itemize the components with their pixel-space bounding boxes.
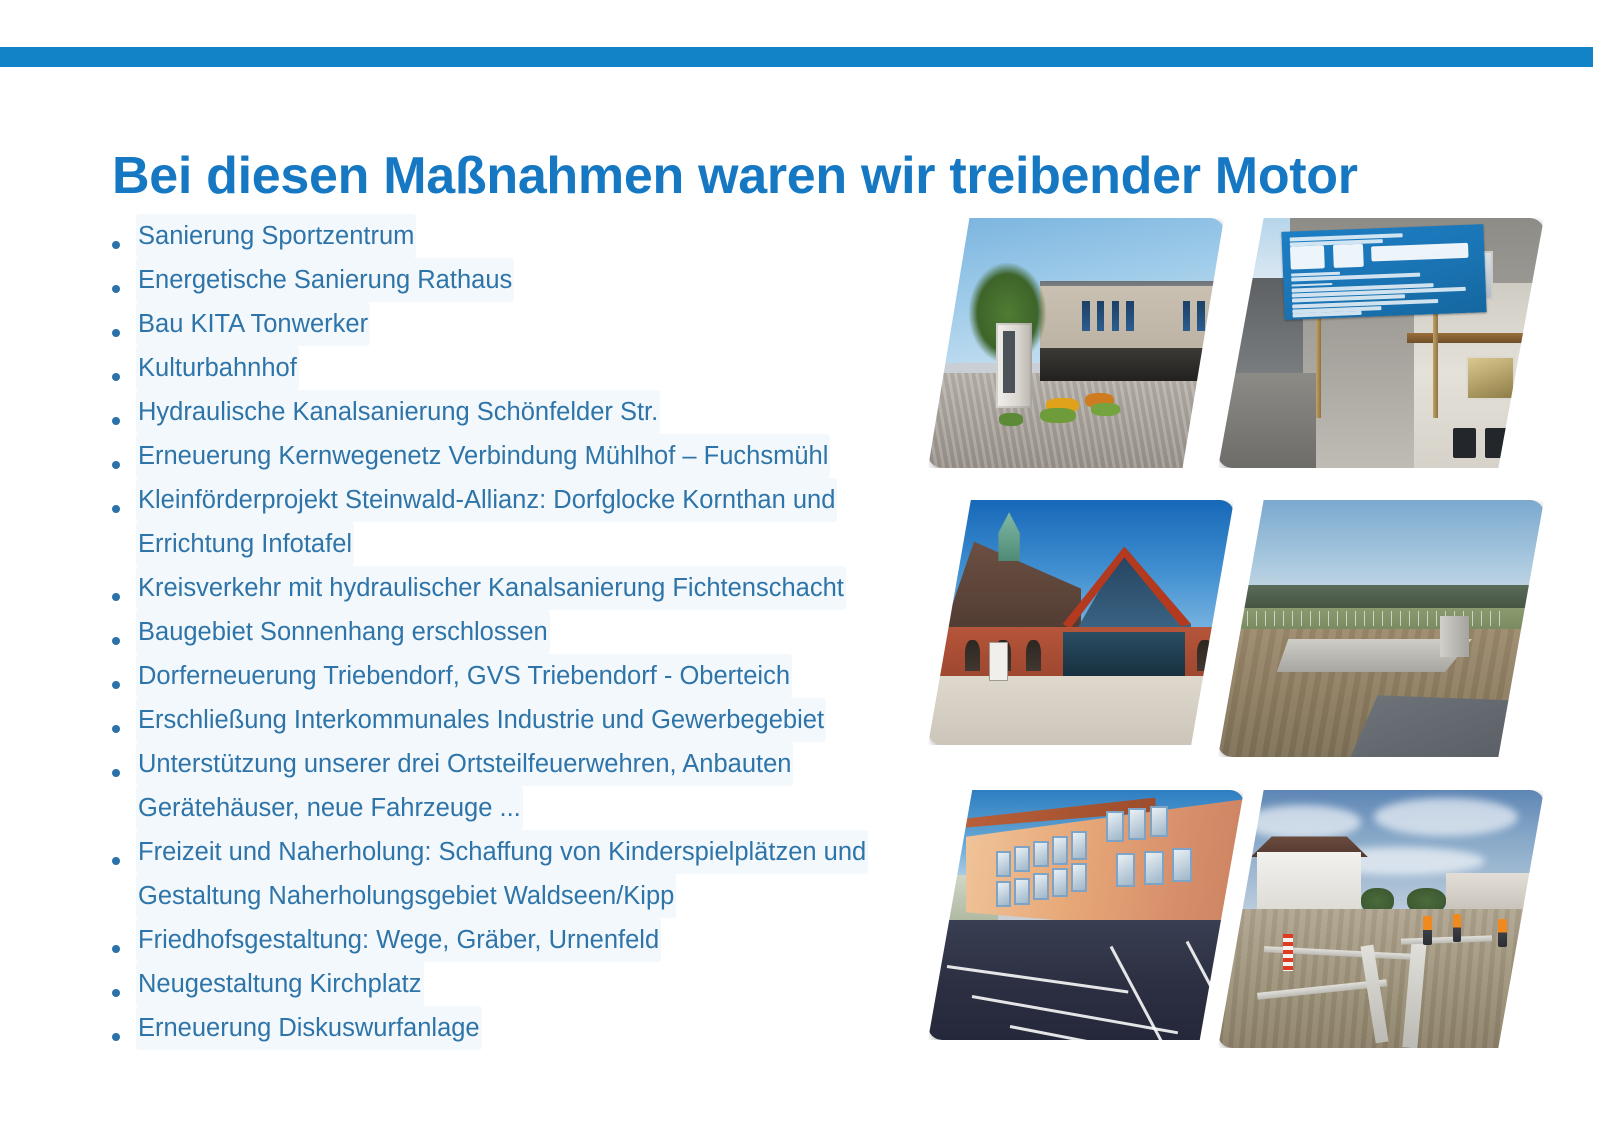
flower-bed [999, 413, 1023, 426]
bullet-item: Friedhofsgestaltung: Wege, Gräber, Urnen… [112, 918, 942, 962]
bullet-item: Bau KITA Tonwerker [112, 302, 942, 346]
bullet-line-continuation: Gestaltung Naherholungsgebiet Waldseen/K… [136, 874, 676, 918]
page-title: Bei diesen Maßnahmen waren wir treibende… [112, 147, 1542, 205]
bullet-text: Erneuerung Kernwegenetz Verbindung Mühlh… [136, 434, 942, 478]
bullet-item: Erneuerung Kernwegenetz Verbindung Mühlh… [112, 434, 942, 478]
bullet-line: Friedhofsgestaltung: Wege, Gräber, Urnen… [136, 918, 661, 962]
bullet-item: Freizeit und Naherholung: Schaffung von … [112, 830, 942, 918]
canopy-beam [1407, 333, 1544, 343]
tree-line [1218, 585, 1544, 611]
asphalt-parking [928, 920, 1244, 1040]
bullet-text: Freizeit und Naherholung: Schaffung von … [136, 830, 942, 918]
arched-window [1197, 640, 1212, 672]
bullet-dot-icon [112, 367, 136, 385]
bullet-line: Dorferneuerung Triebendorf, GVS Triebend… [136, 654, 792, 698]
bullet-line: Erneuerung Diskuswurfanlage [136, 1006, 482, 1050]
window [1073, 865, 1085, 890]
bullet-text: Bau KITA Tonwerker [136, 302, 942, 346]
bullet-item: Baugebiet Sonnenhang erschlossen [112, 610, 942, 654]
sign-post [1433, 303, 1438, 418]
window [998, 853, 1009, 876]
bullet-text: Energetische Sanierung Rathaus [136, 258, 942, 302]
bullet-text: Erneuerung Diskuswurfanlage [136, 1006, 942, 1050]
bullet-item: Dorferneuerung Triebendorf, GVS Triebend… [112, 654, 942, 698]
bullet-item: Neugestaltung Kirchplatz [112, 962, 942, 1006]
photo-parkplatz[interactable] [928, 790, 1244, 1040]
window [1082, 301, 1090, 331]
bullet-line: Sanierung Sportzentrum [136, 214, 416, 258]
bullet-text: Dorferneuerung Triebendorf, GVS Triebend… [136, 654, 942, 698]
arched-window [965, 640, 980, 672]
measures-bullet-list: Sanierung SportzentrumEnergetische Sanie… [112, 214, 942, 1050]
bullet-text: Neugestaltung Kirchplatz [136, 962, 942, 1006]
window-lit [1466, 356, 1516, 400]
bullet-dot-icon [112, 235, 136, 253]
bullet-line: Erschließung Interkommunales Industrie u… [136, 698, 826, 742]
window [1035, 843, 1046, 866]
bullet-line-continuation: Errichtung Infotafel [136, 522, 354, 566]
bullet-dot-icon [112, 587, 136, 605]
flower-bed [1040, 408, 1076, 423]
photo-pfarrheim[interactable] [928, 500, 1234, 745]
bullet-text: Kleinförderprojekt Steinwald-Allianz: Do… [136, 478, 942, 566]
white-house [1257, 852, 1361, 909]
cloud [1244, 805, 1361, 839]
shaft-tower [1440, 616, 1469, 657]
bullet-item: Unterstützung unserer drei Ortsteilfeuer… [112, 742, 942, 830]
window [1035, 875, 1046, 898]
bullet-line: Freizeit und Naherholung: Schaffung von … [136, 830, 868, 874]
window [1183, 301, 1191, 331]
construction-worker [1498, 919, 1506, 947]
photo-strassenbau[interactable] [1218, 790, 1544, 1048]
bullet-text: Unterstützung unserer drei Ortsteilfeuer… [136, 742, 942, 830]
plaza-paving [928, 373, 1224, 468]
entrance-glazing [1063, 632, 1185, 676]
bullet-line: Hydraulische Kanalsanierung Schönfelder … [136, 390, 660, 434]
window [1197, 301, 1205, 331]
sky-region [1218, 218, 1290, 283]
bullet-dot-icon [112, 939, 136, 957]
bullet-text: Hydraulische Kanalsanierung Schönfelder … [136, 390, 942, 434]
bullet-item: Energetische Sanierung Rathaus [112, 258, 942, 302]
bullet-dot-icon [112, 851, 136, 869]
header-accent-bar [0, 47, 1593, 67]
bullet-dot-icon [112, 279, 136, 297]
window [1146, 853, 1162, 883]
bullet-item: Kreisverkehr mit hydraulischer Kanalsani… [112, 566, 942, 610]
bullet-item: Kulturbahnhof [112, 346, 942, 390]
bullet-text: Kulturbahnhof [136, 346, 942, 390]
window [1097, 301, 1105, 331]
bullet-dot-icon [112, 411, 136, 429]
photo-gallery [928, 218, 1544, 1040]
bullet-line: Kulturbahnhof [136, 346, 299, 390]
background-house [1446, 873, 1537, 909]
window [1152, 808, 1166, 836]
bullet-line: Kreisverkehr mit hydraulischer Kanalsani… [136, 566, 846, 610]
window [1108, 813, 1122, 841]
monument-recess [1003, 331, 1015, 394]
bullet-dot-icon [112, 1027, 136, 1045]
photo-bauschild-kita[interactable] [1218, 218, 1544, 468]
bullet-item: Erneuerung Diskuswurfanlage [112, 1006, 942, 1050]
window [1174, 850, 1190, 880]
bullet-item: Kleinförderprojekt Steinwald-Allianz: Do… [112, 478, 942, 566]
bullet-line: Erneuerung Kernwegenetz Verbindung Mühlh… [136, 434, 830, 478]
bullet-item: Erschließung Interkommunales Industrie u… [112, 698, 942, 742]
bullet-line: Baugebiet Sonnenhang erschlossen [136, 610, 550, 654]
window [1126, 301, 1134, 331]
bullet-dot-icon [112, 983, 136, 1001]
window [1054, 838, 1066, 863]
window [1130, 810, 1144, 838]
bullet-line: Energetische Sanierung Rathaus [136, 258, 514, 302]
bullet-text: Kreisverkehr mit hydraulischer Kanalsani… [136, 566, 942, 610]
bullet-text: Baugebiet Sonnenhang erschlossen [136, 610, 942, 654]
bullet-dot-icon [112, 719, 136, 737]
arched-window [1026, 640, 1041, 672]
construction-worker [1423, 916, 1431, 944]
window [1118, 855, 1134, 885]
bullet-dot-icon [112, 455, 136, 473]
bullet-item: Hydraulische Kanalsanierung Schönfelder … [112, 390, 942, 434]
window [1073, 833, 1085, 858]
bullet-dot-icon [112, 763, 136, 781]
bullet-dot-icon [112, 323, 136, 341]
flower-bed [1091, 403, 1121, 416]
cloud [1374, 798, 1517, 837]
notice-board [989, 642, 1007, 681]
window [1016, 880, 1027, 903]
road-surface [1218, 373, 1316, 468]
chair [1518, 428, 1541, 458]
traffic-cone [1283, 934, 1293, 970]
photo-sportzentrum[interactable] [928, 218, 1224, 468]
window [998, 883, 1009, 906]
bullet-item: Sanierung Sportzentrum [112, 214, 942, 258]
bullet-dot-icon [112, 631, 136, 649]
plaza-paving [928, 676, 1234, 745]
window [1054, 870, 1066, 895]
chair [1453, 428, 1476, 458]
bullet-text: Friedhofsgestaltung: Wege, Gräber, Urnen… [136, 918, 942, 962]
construction-worker [1453, 914, 1461, 942]
bullet-dot-icon [112, 499, 136, 517]
building-colonnade [1040, 348, 1224, 381]
asphalt-apron [1348, 695, 1544, 757]
chair [1485, 428, 1508, 458]
bullet-line: Kleinförderprojekt Steinwald-Allianz: Do… [136, 478, 837, 522]
bullet-line: Bau KITA Tonwerker [136, 302, 370, 346]
bullet-dot-icon [112, 675, 136, 693]
bullet-text: Erschließung Interkommunales Industrie u… [136, 698, 942, 742]
bullet-line: Unterstützung unserer drei Ortsteilfeuer… [136, 742, 793, 786]
photo-rueckhaltebecken[interactable] [1218, 500, 1544, 757]
bullet-text: Sanierung Sportzentrum [136, 214, 942, 258]
construction-sign [1282, 224, 1487, 319]
window [1016, 848, 1027, 871]
bullet-line-continuation: Gerätehäuser, neue Fahrzeuge ... [136, 786, 523, 830]
bullet-line: Neugestaltung Kirchplatz [136, 962, 424, 1006]
sign-post [1316, 303, 1321, 418]
window [1112, 301, 1120, 331]
